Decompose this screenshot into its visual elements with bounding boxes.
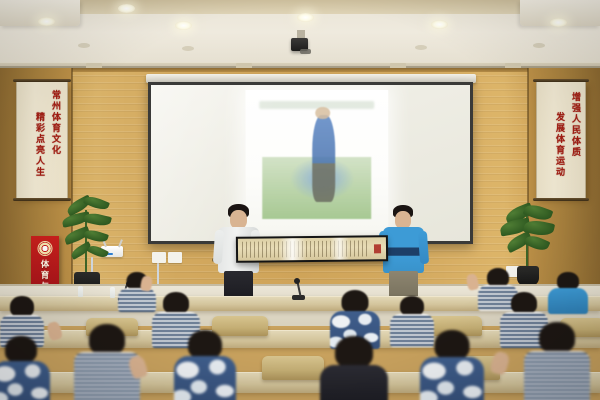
- wall-outlet: [152, 252, 166, 263]
- banner-char: 育: [31, 271, 59, 282]
- wall-outlet: [168, 252, 182, 263]
- attendee: [0, 336, 50, 400]
- lecture-hall-photo: 常州体育文化 精彩点亮人生 增强人民体质 发展体育运动: [0, 0, 600, 400]
- water-bottle: [110, 287, 115, 298]
- projection-screen-surface: [151, 85, 470, 241]
- mic-base: [292, 295, 305, 300]
- attendee-head: [342, 290, 369, 313]
- ceiling-bevel: [0, 0, 600, 14]
- scroll-rod-top: [13, 79, 71, 82]
- attendee-torso: [0, 361, 50, 400]
- left-scroll-column-secondary: 精彩点亮人生: [34, 112, 43, 188]
- attendee-head: [539, 322, 575, 353]
- attendee-torso: [320, 365, 388, 400]
- attendee-torso: [524, 351, 590, 400]
- smoke-detector-icon: [78, 43, 90, 48]
- attendee-torso: [118, 288, 156, 312]
- water-bottle: [78, 286, 83, 297]
- mic-head: [294, 278, 300, 284]
- attendee-head: [163, 292, 189, 314]
- plaque-glass-glare: [279, 238, 306, 260]
- banner-char: 体: [31, 260, 59, 271]
- attendee-torso: [548, 288, 588, 314]
- attendee-head: [188, 330, 222, 359]
- smoke-detector-icon: [415, 45, 427, 50]
- attendee-head: [511, 292, 537, 314]
- projector-lens: [300, 49, 311, 54]
- attendee-head: [400, 296, 424, 316]
- framed-calligraphy-plaque: [236, 235, 388, 263]
- right-hanging-scroll: 增强人民体质 发展体育运动: [536, 82, 586, 198]
- attendee-torso: [420, 357, 484, 400]
- left-scroll-column-primary: 常州体育文化: [50, 90, 59, 162]
- attendee-head: [10, 296, 34, 317]
- downlight-icon: [297, 13, 314, 22]
- slide-person-head: [315, 107, 329, 120]
- plaque-glass-glare: [330, 238, 349, 260]
- attendee: [524, 322, 590, 400]
- left-hanging-scroll: 常州体育文化 精彩点亮人生: [16, 82, 68, 198]
- right-scroll-column-primary: 发展体育运动: [554, 112, 563, 188]
- attendee-head: [89, 324, 125, 355]
- wall-top-trim: [0, 68, 600, 72]
- attendee: [320, 336, 388, 400]
- attendee: [420, 330, 484, 400]
- attendee-torso: [174, 356, 236, 400]
- projected-slide: [245, 90, 389, 230]
- plaque-paper: [238, 237, 386, 261]
- projection-screen: [148, 82, 473, 244]
- seat-back: [262, 356, 324, 380]
- scroll-rod-bottom: [13, 198, 71, 201]
- attendee-head: [335, 336, 373, 368]
- scroll-rod-bottom: [533, 198, 589, 201]
- attendee-head: [5, 336, 37, 363]
- plant-pot: [517, 266, 539, 286]
- slide-person-figure: [313, 115, 336, 202]
- right-scroll-column-secondary: 增强人民体质: [570, 92, 579, 166]
- downlight-icon: [431, 20, 448, 29]
- attendee: [174, 330, 236, 400]
- university-seal-emblem-icon: [38, 241, 53, 256]
- downlight-icon: [118, 4, 135, 13]
- smoke-detector-icon: [182, 46, 194, 51]
- smoke-detector-icon: [533, 43, 545, 48]
- downlight-icon: [550, 18, 567, 27]
- attendee: [548, 272, 588, 312]
- attendee-head: [435, 330, 470, 360]
- scroll-rod-top: [533, 79, 589, 82]
- downlight-icon: [38, 17, 55, 26]
- downlight-icon: [175, 21, 192, 30]
- plaque-red-seal: [374, 244, 381, 253]
